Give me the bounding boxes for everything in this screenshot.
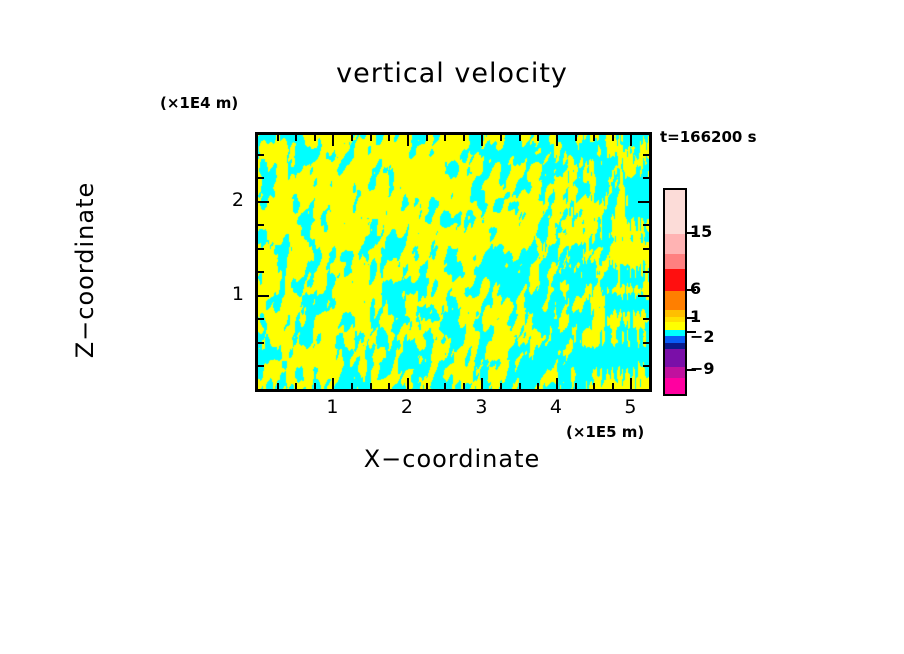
axis-tick bbox=[407, 135, 409, 146]
axis-tick bbox=[314, 135, 316, 141]
axis-tick bbox=[444, 135, 446, 141]
axis-tick bbox=[351, 383, 353, 389]
axis-tick bbox=[612, 135, 614, 141]
colorbar-label-0: 15 bbox=[690, 222, 712, 241]
axis-tick bbox=[370, 383, 372, 389]
axis-tick bbox=[643, 154, 649, 156]
axis-tick bbox=[463, 383, 465, 389]
axis-tick bbox=[444, 383, 446, 389]
axis-tick bbox=[277, 383, 279, 389]
axis-tick bbox=[643, 318, 649, 320]
axis-tick bbox=[258, 295, 269, 297]
x-axis-title: X−coordinate bbox=[0, 445, 904, 473]
axis-tick bbox=[332, 378, 334, 389]
page-title: vertical velocity bbox=[0, 58, 904, 89]
axis-tick bbox=[643, 365, 649, 367]
axis-tick bbox=[537, 383, 539, 389]
x-tick-label-4: 4 bbox=[541, 396, 571, 418]
axis-tick bbox=[643, 224, 649, 226]
axis-tick bbox=[643, 248, 649, 250]
colorbar-band-9 bbox=[665, 336, 685, 343]
axis-tick bbox=[500, 383, 502, 389]
axis-tick bbox=[481, 378, 483, 389]
colorbar-label-3: −2 bbox=[690, 327, 715, 346]
colorbar-label-2: 1 bbox=[690, 307, 701, 326]
axis-tick bbox=[638, 201, 649, 203]
time-annotation: t=166200 s bbox=[660, 128, 757, 146]
axis-tick bbox=[258, 177, 264, 179]
axis-tick bbox=[258, 271, 264, 273]
vertical-velocity-field bbox=[258, 135, 649, 389]
axis-tick bbox=[593, 383, 595, 389]
axis-tick bbox=[519, 383, 521, 389]
axis-tick bbox=[519, 135, 521, 141]
axis-tick bbox=[426, 383, 428, 389]
colorbar-band-10 bbox=[665, 343, 685, 350]
colorbar-band-3 bbox=[665, 269, 685, 290]
axis-tick bbox=[575, 383, 577, 389]
axis-tick bbox=[612, 383, 614, 389]
axis-tick bbox=[277, 135, 279, 141]
axis-tick bbox=[630, 135, 632, 146]
axis-tick bbox=[500, 135, 502, 141]
axis-tick bbox=[407, 378, 409, 389]
axis-tick bbox=[388, 383, 390, 389]
colorbar-band-0 bbox=[665, 190, 685, 234]
axis-tick bbox=[556, 135, 558, 146]
y-tick-label-2: 2 bbox=[222, 189, 244, 211]
axis-tick bbox=[643, 271, 649, 273]
axis-tick bbox=[593, 135, 595, 141]
x-tick-label-1: 1 bbox=[317, 396, 347, 418]
axis-tick bbox=[258, 342, 264, 344]
axis-tick bbox=[351, 135, 353, 141]
x-tick-label-3: 3 bbox=[466, 396, 496, 418]
axis-tick bbox=[258, 365, 264, 367]
axis-tick bbox=[258, 318, 264, 320]
axis-tick bbox=[388, 135, 390, 141]
axis-tick bbox=[258, 154, 264, 156]
colorbar-band-2 bbox=[665, 254, 685, 269]
axis-tick bbox=[481, 135, 483, 146]
axis-tick bbox=[463, 135, 465, 141]
axis-tick bbox=[370, 135, 372, 141]
colorbar-band-13 bbox=[665, 378, 685, 393]
axis-tick bbox=[314, 383, 316, 389]
axis-tick bbox=[643, 177, 649, 179]
x-tick-label-2: 2 bbox=[392, 396, 422, 418]
axis-tick bbox=[643, 342, 649, 344]
z-axis-title: Z−coordinate bbox=[71, 100, 99, 440]
axis-tick bbox=[295, 135, 297, 141]
axis-tick bbox=[537, 135, 539, 141]
axis-tick bbox=[638, 295, 649, 297]
axis-tick bbox=[426, 135, 428, 141]
colorbar-band-11 bbox=[665, 349, 685, 366]
contour-plot-panel bbox=[255, 132, 652, 392]
axis-tick bbox=[258, 201, 269, 203]
colorbar-band-7 bbox=[665, 322, 685, 330]
colorbar bbox=[663, 188, 687, 396]
x-units-caption: (×1E5 m) bbox=[566, 423, 644, 441]
axis-tick bbox=[258, 248, 264, 250]
colorbar-band-5 bbox=[665, 310, 685, 317]
axis-tick bbox=[332, 135, 334, 146]
axis-tick bbox=[295, 383, 297, 389]
y-tick-label-1: 1 bbox=[222, 283, 244, 305]
colorbar-band-12 bbox=[665, 367, 685, 379]
axis-tick bbox=[258, 224, 264, 226]
z-units-caption: (×1E4 m) bbox=[160, 94, 238, 112]
axis-tick bbox=[630, 378, 632, 389]
x-tick-label-5: 5 bbox=[615, 396, 645, 418]
colorbar-label-1: 6 bbox=[690, 279, 701, 298]
axis-tick bbox=[556, 378, 558, 389]
axis-tick bbox=[575, 135, 577, 141]
colorbar-band-1 bbox=[665, 234, 685, 253]
colorbar-label-4: −9 bbox=[690, 359, 715, 378]
colorbar-band-4 bbox=[665, 291, 685, 310]
